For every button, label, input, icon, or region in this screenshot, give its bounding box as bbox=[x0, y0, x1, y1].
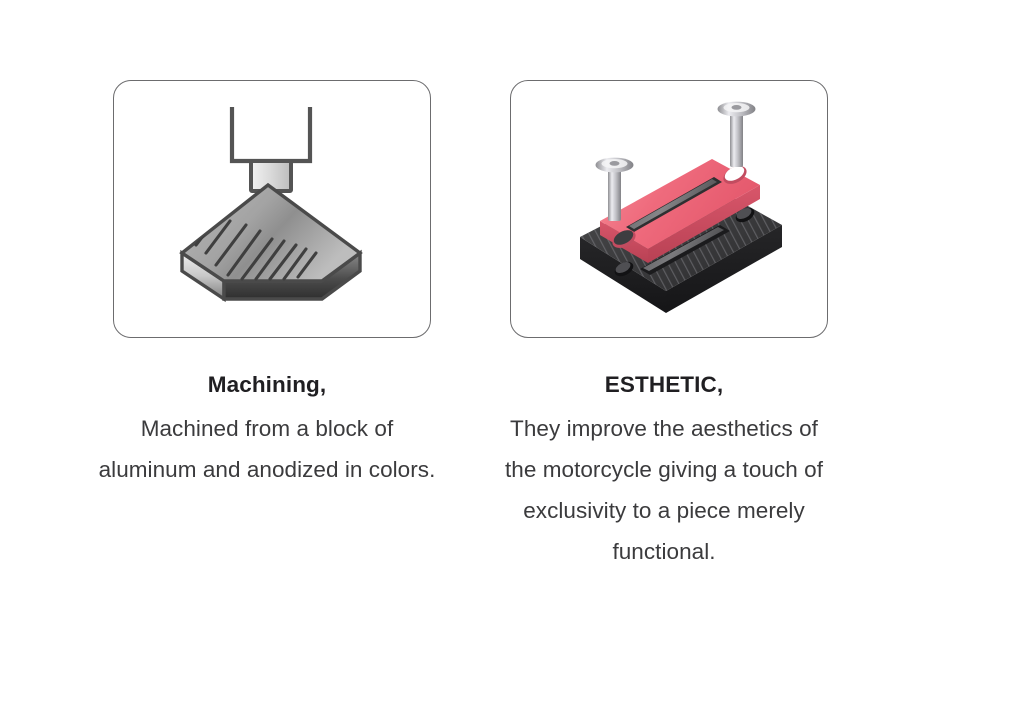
screw-right-socket bbox=[732, 105, 742, 110]
workpiece-top-face bbox=[182, 185, 360, 281]
screw-right-shaft bbox=[730, 109, 743, 167]
esthetic-heading: ESTHETIC, bbox=[494, 370, 834, 400]
machining-text-block: Machining, Machined from a block of alum… bbox=[97, 370, 437, 490]
feature-card-machining: Machining, Machined from a block of alum… bbox=[112, 80, 432, 490]
esthetic-body: They improve the aesthetics of the motor… bbox=[494, 408, 834, 572]
esthetic-text-block: ESTHETIC, They improve the aesthetics of… bbox=[494, 370, 834, 572]
cnc-milling-icon bbox=[172, 103, 372, 315]
machining-body: Machined from a block of aluminum and an… bbox=[97, 408, 437, 490]
feature-card-esthetic: ESTHETIC, They improve the aesthetics of… bbox=[509, 80, 829, 572]
machining-image-frame bbox=[113, 80, 431, 338]
motorcycle-bracket-photo bbox=[544, 91, 794, 327]
screw-left-socket bbox=[610, 161, 620, 166]
machining-heading: Machining, bbox=[97, 370, 437, 400]
esthetic-image-frame bbox=[510, 80, 828, 338]
spindle-holder-icon bbox=[232, 107, 310, 161]
feature-card-grid: Machining, Machined from a block of alum… bbox=[0, 0, 1024, 708]
screw-right bbox=[718, 102, 756, 167]
screw-left-shaft bbox=[608, 165, 621, 221]
